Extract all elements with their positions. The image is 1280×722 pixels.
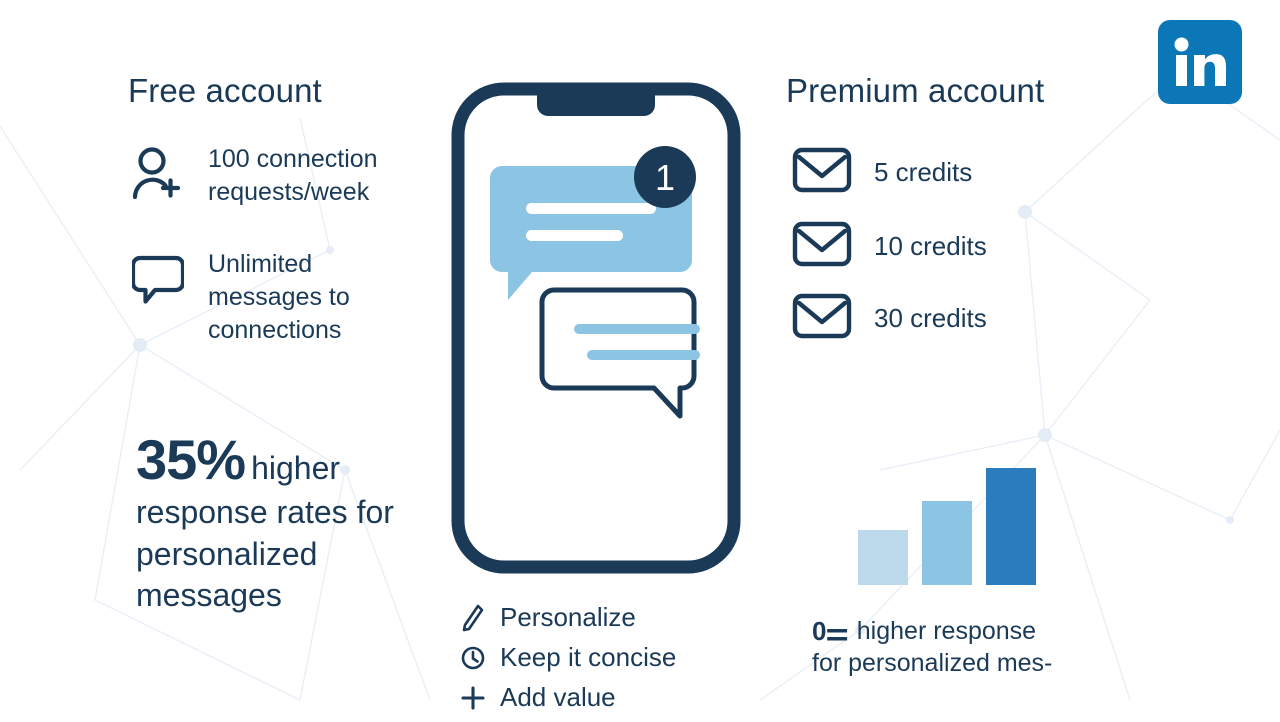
tip-add-value: Add value (460, 682, 676, 713)
free-account-title: Free account (128, 72, 322, 110)
tip-personalize: Personalize (460, 602, 676, 633)
chart-caption: 0⚌ higher response for personalized mes- (812, 614, 1122, 679)
tip-add-value-label: Add value (500, 682, 616, 713)
premium-credit-3-label: 30 credits (874, 303, 987, 334)
response-rate-bar-chart (858, 455, 1038, 585)
stat-highlight-word: higher (251, 452, 340, 484)
tip-keep-it-concise: Keep it concise (460, 642, 676, 673)
free-feature-unlimited-messages: Unlimited messages to connections (132, 248, 432, 347)
bar-1 (858, 530, 908, 585)
person-add-icon (132, 143, 192, 199)
stat-percent: 35% (136, 432, 245, 488)
stat-description: response rates for personalized messages (136, 492, 436, 617)
clock-icon (460, 645, 486, 671)
free-feature-2-label: Unlimited messages to connections (208, 248, 432, 347)
smartphone-mockup: 1 (444, 78, 746, 578)
speech-bubble-icon (132, 248, 192, 304)
premium-credit-row-2: 10 credits (792, 220, 987, 273)
linkedin-logo (1158, 20, 1242, 104)
premium-credit-row-1: 5 credits (792, 146, 972, 199)
premium-credit-row-3: 30 credits (792, 292, 987, 345)
premium-credit-1-label: 5 credits (874, 157, 972, 188)
bar-2 (922, 501, 972, 585)
free-feature-connection-requests: 100 connection requests/week (132, 143, 432, 209)
envelope-icon (792, 146, 852, 199)
envelope-icon (792, 220, 852, 273)
chart-caption-line-2: for personalized mes- (812, 647, 1122, 679)
premium-account-title: Premium account (786, 72, 1044, 110)
chart-caption-line-1: higher response (857, 615, 1036, 647)
response-rate-stat: 35% higher response rates for personaliz… (136, 432, 436, 617)
unread-badge-count: 1 (655, 157, 675, 198)
free-feature-1-label: 100 connection requests/week (208, 143, 432, 209)
envelope-icon (792, 292, 852, 345)
bar-3 (986, 468, 1036, 585)
premium-credit-2-label: 10 credits (874, 231, 987, 262)
pencil-icon (460, 604, 486, 632)
tips-list: Personalize Keep it concise Add value (460, 602, 676, 722)
plus-icon (460, 685, 486, 711)
linkedin-in-mark-icon (1173, 35, 1227, 89)
tip-concise-label: Keep it concise (500, 642, 676, 673)
infographic-canvas: Free account 100 connection requests/wee… (0, 0, 1280, 720)
percent-glyph-icon: 0⚌ (812, 615, 848, 648)
tip-personalize-label: Personalize (500, 602, 636, 633)
